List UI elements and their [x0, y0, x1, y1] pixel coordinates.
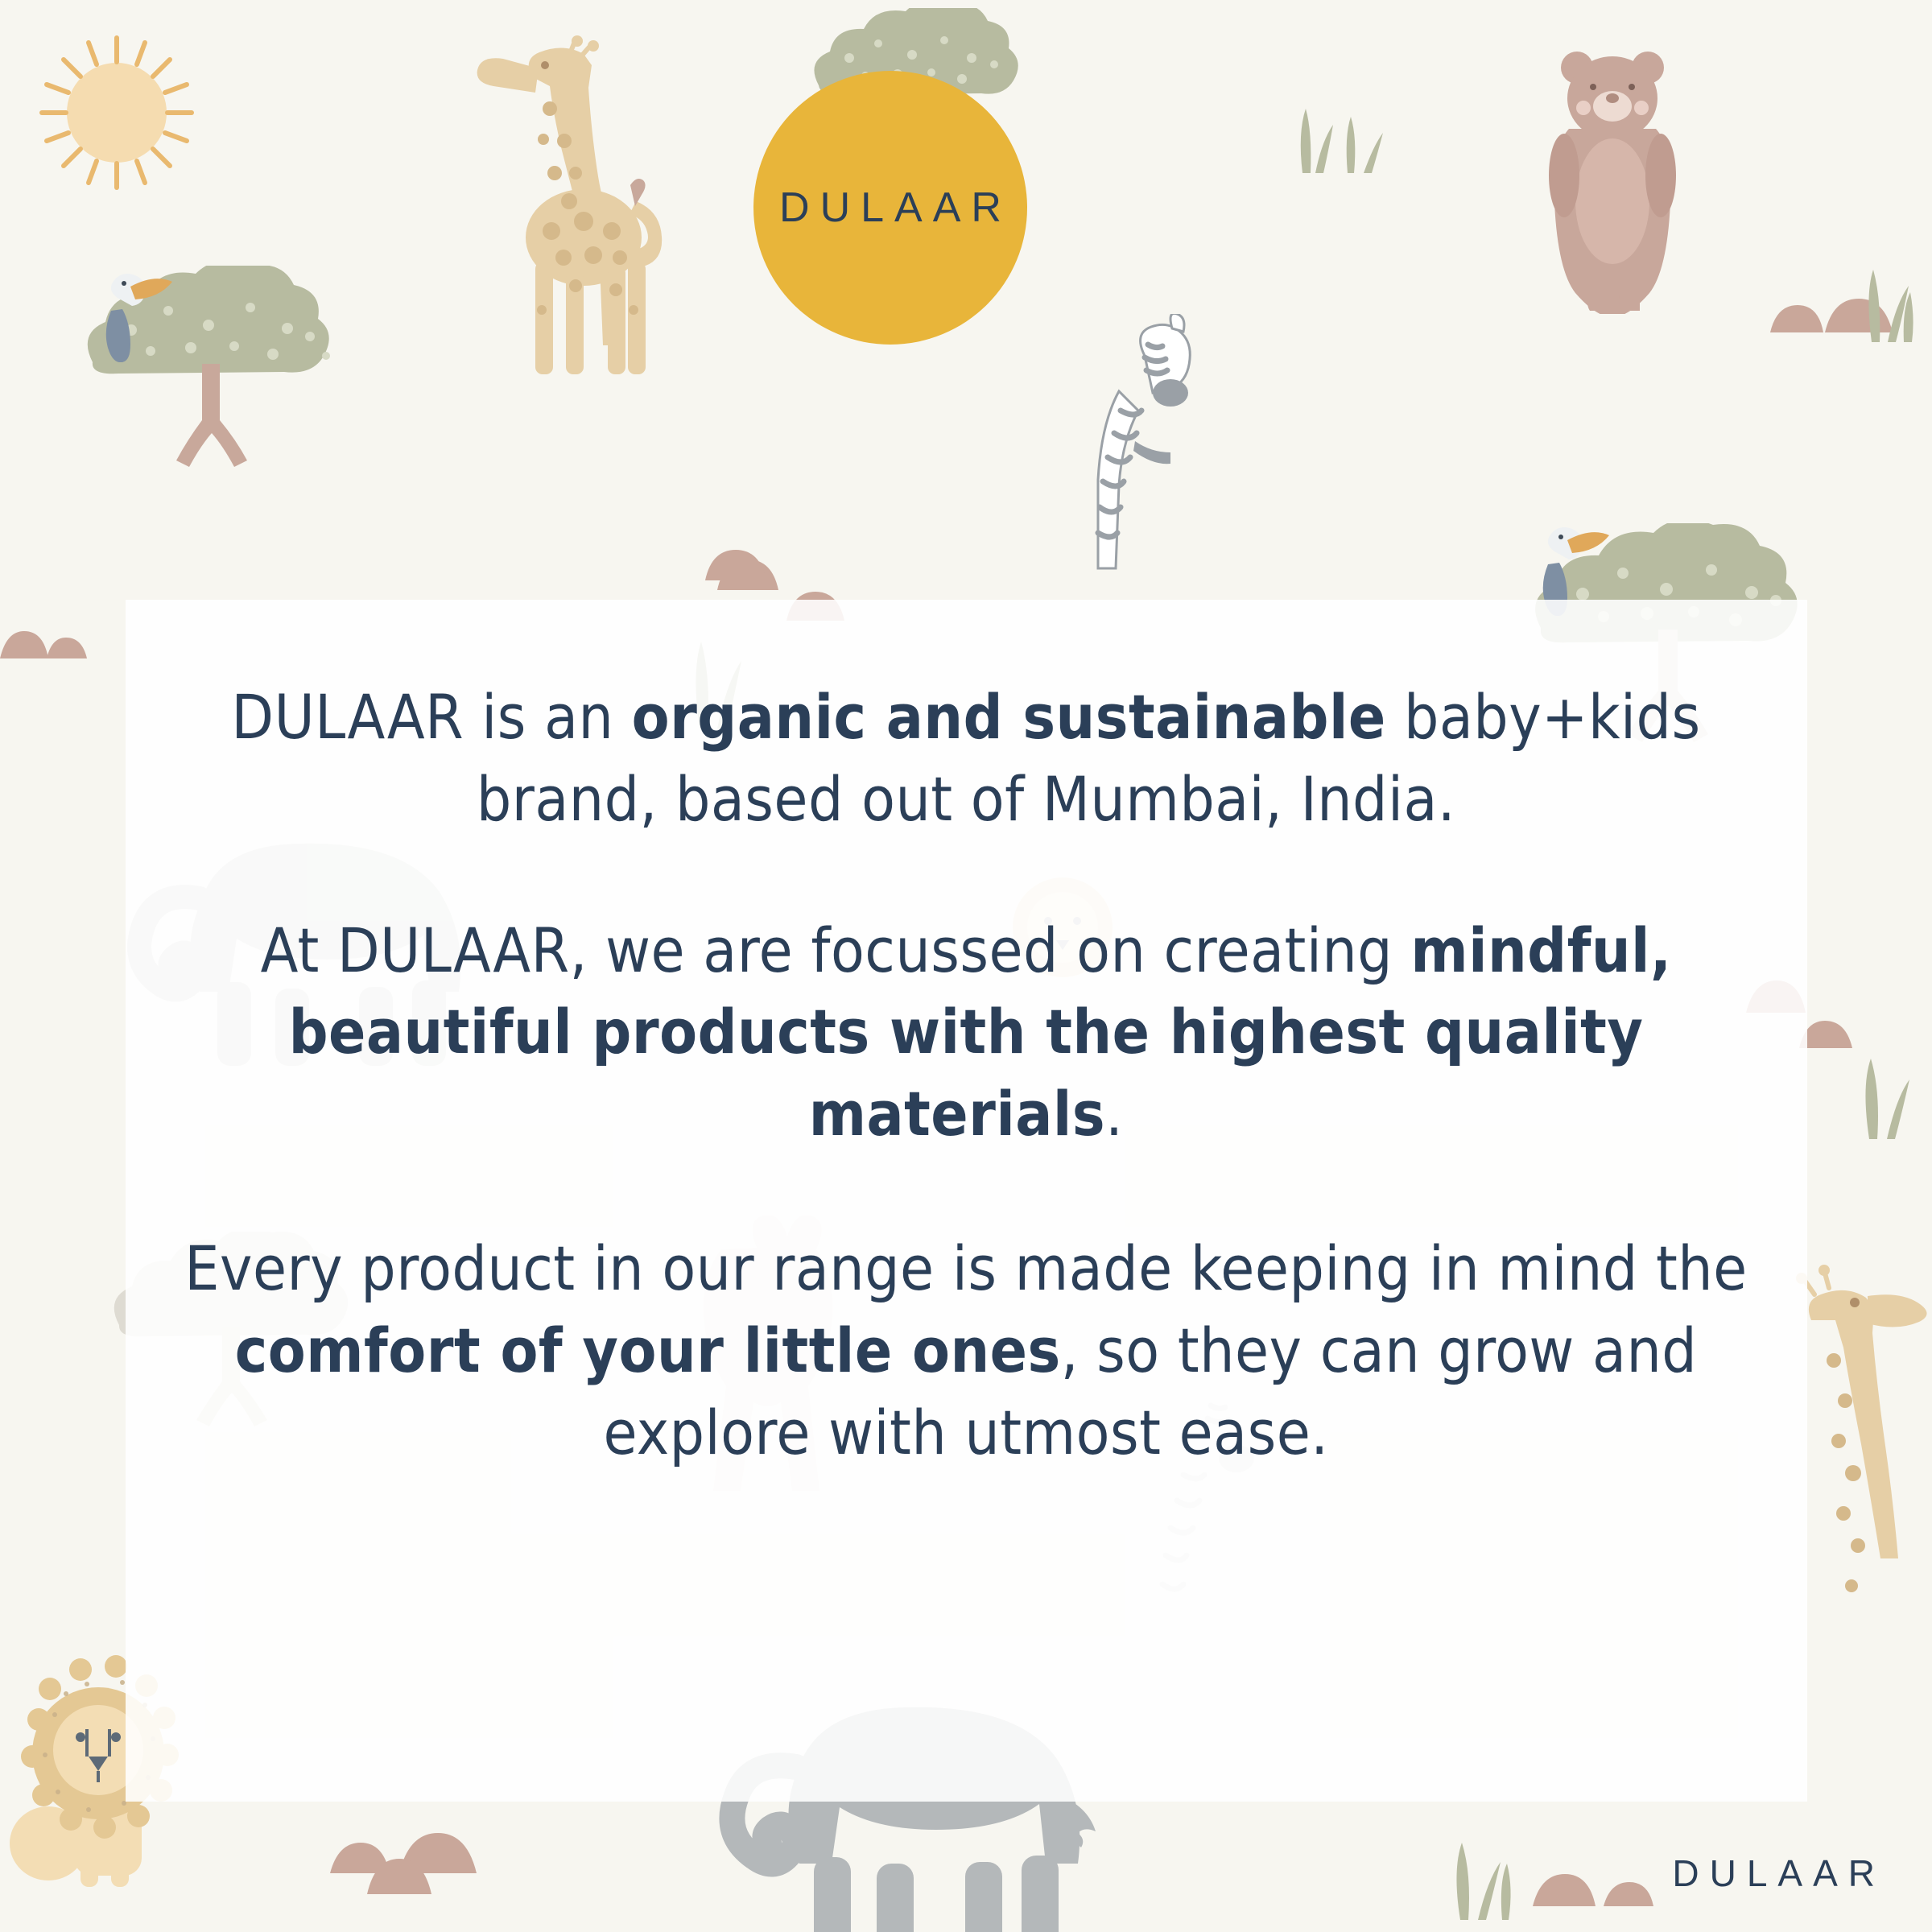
about-copy: DULAAR is an organic and sustainable bab… — [145, 676, 1787, 1474]
rock-icon — [1529, 1851, 1666, 1924]
zebra-icon — [1071, 314, 1248, 580]
sun-icon — [24, 20, 209, 205]
bear-icon — [1542, 40, 1686, 314]
paragraph-intro: DULAAR is an organic and sustainable bab… — [145, 676, 1787, 840]
grass-tuft-icon — [1856, 250, 1928, 346]
paragraph-1-bold-1: organic and sustainable — [632, 681, 1386, 753]
poster-canvas: DULAAR DULAAR is an organic and sustaina… — [0, 0, 1932, 1932]
paragraph-1-part-1: DULAAR is an — [231, 681, 631, 753]
toucan-icon — [89, 266, 177, 362]
mushroom-icon — [700, 535, 773, 592]
paragraph-2-part-2: . — [1105, 1078, 1123, 1150]
rock-icon — [322, 1815, 499, 1896]
paragraph-mission: At DULAAR, we are focussed on creating m… — [145, 910, 1787, 1155]
paragraph-comfort: Every product in our range is made keepi… — [145, 1228, 1787, 1473]
paragraph-2-part-1: At DULAAR, we are focussed on creating — [261, 914, 1411, 986]
footer-wordmark: DULAAR — [1662, 1851, 1885, 1895]
grass-tuft-icon — [1288, 89, 1393, 177]
giraffe-icon — [455, 20, 696, 407]
paragraph-3-part-1: Every product in our range is made keepi… — [184, 1232, 1747, 1304]
logo-badge: DULAAR — [753, 71, 1027, 345]
logo-text: DULAAR — [769, 184, 1012, 232]
rock-icon — [0, 612, 89, 668]
grass-tuft-icon — [1851, 1038, 1924, 1143]
paragraph-3-bold-1: comfort of your little ones — [235, 1315, 1061, 1386]
